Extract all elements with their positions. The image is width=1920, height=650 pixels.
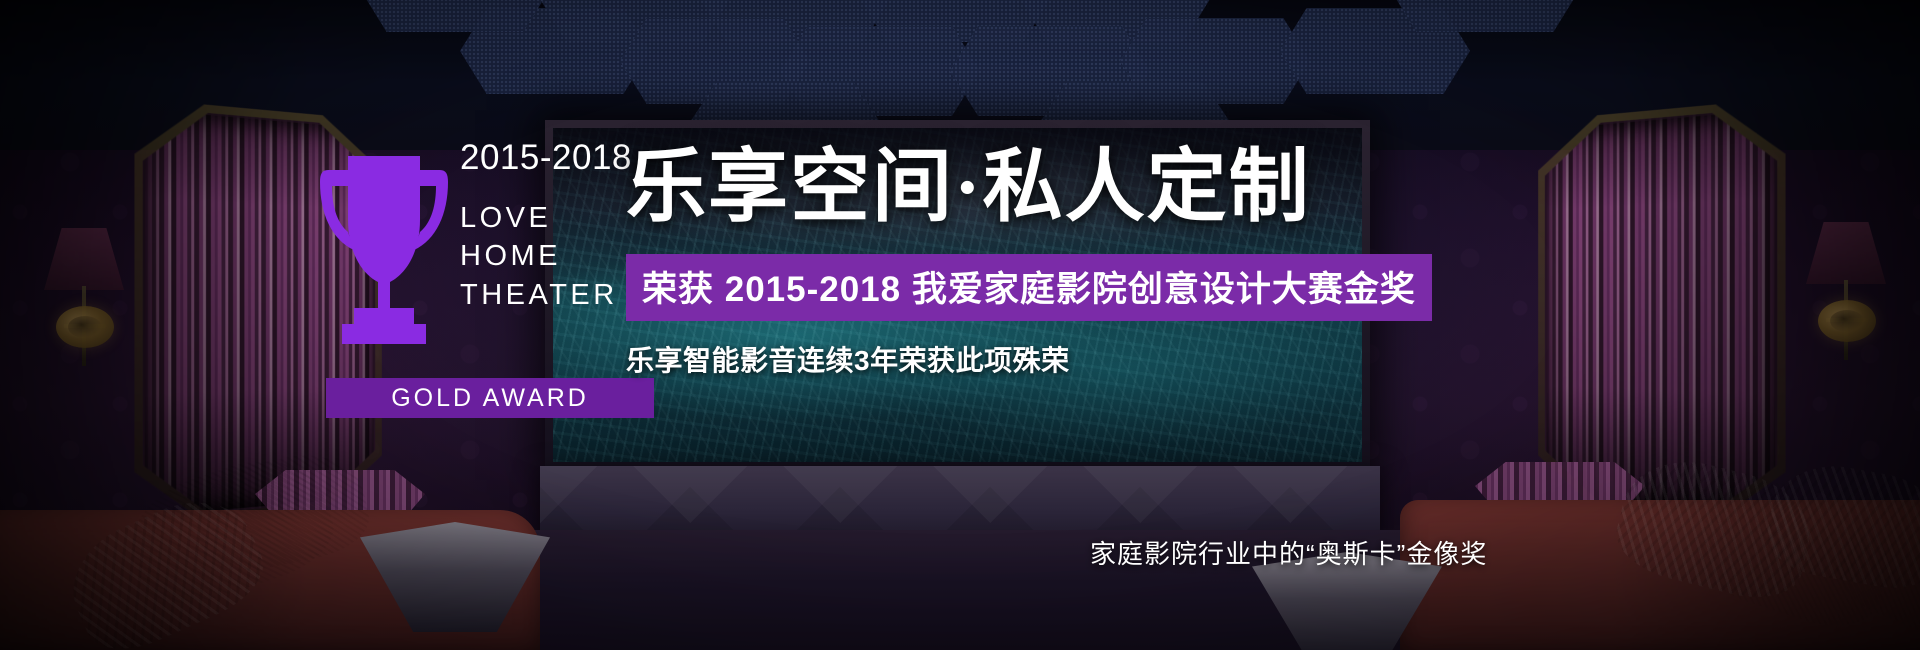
award-block: 2015-2018 LOVE HOME THEATER GOLD AWARD [318,140,618,410]
footnote-caption: 家庭影院行业中的“奥斯卡”金像奖 [1090,534,1487,571]
award-line-home: HOME [460,237,630,275]
gold-award-badge: GOLD AWARD [326,378,654,418]
award-years: 2015-2018 [460,140,630,175]
main-headline: 乐享空间·私人定制 [626,148,1746,228]
award-ribbon-label: 荣获 2015-2018 我爱家庭影院创意设计大赛金奖 [642,270,1416,309]
promo-banner: 2015-2018 LOVE HOME THEATER GOLD AWARD 乐… [0,0,1920,650]
award-ribbon: 荣获 2015-2018 我爱家庭影院创意设计大赛金奖 [626,254,1432,321]
gold-award-label: GOLD AWARD [391,384,589,413]
award-line-love: LOVE [460,199,630,237]
award-title-lines: LOVE HOME THEATER [460,199,630,314]
sub-headline: 乐享智能影音连续3年荣获此项殊荣 [626,339,1746,379]
headline-copy-block: 乐享空间·私人定制 荣获 2015-2018 我爱家庭影院创意设计大赛金奖 乐享… [626,148,1746,379]
right-wall-sconce-icon [1800,222,1892,372]
award-line-theater: THEATER [460,276,630,314]
award-text-block: 2015-2018 LOVE HOME THEATER [460,140,630,314]
left-wall-sconce-icon [38,228,130,378]
trophy-icon [318,148,450,348]
